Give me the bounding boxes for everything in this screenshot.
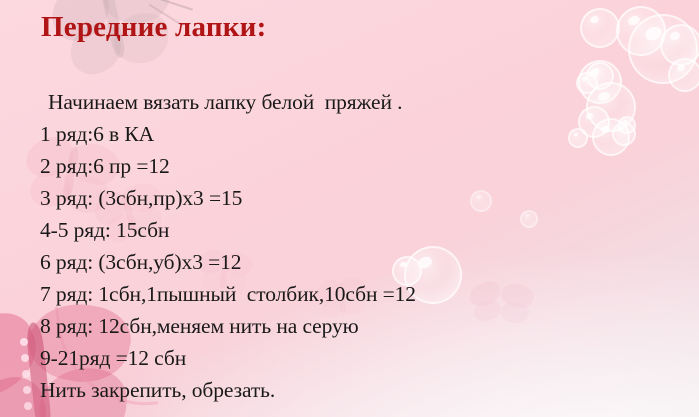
list-item: 4-5 ряд: 15сбн	[40, 214, 660, 246]
list-item: 2 ряд:6 пр =12	[40, 150, 660, 182]
list-item: 3 ряд: (3сбн,пр)х3 =15	[40, 182, 660, 214]
list-item: 7 ряд: 1сбн,1пышный столбик,10сбн =12	[40, 278, 660, 310]
list-item: Начинаем вязать лапку белой пряжей .	[40, 86, 660, 118]
list-item: 6 ряд: (3сбн,уб)х3 =12	[40, 246, 660, 278]
list-item: 1 ряд:6 в КА	[40, 118, 660, 150]
instructions-list: Начинаем вязать лапку белой пряжей . 1 р…	[40, 86, 660, 406]
page-title: Передние лапки:	[41, 13, 266, 42]
list-item: 8 ряд: 12сбн,меняем нить на серую	[40, 310, 660, 342]
list-item: Нить закрепить, обрезать.	[40, 374, 660, 406]
list-item: 9-21ряд =12 сбн	[40, 342, 660, 374]
slide-content: Передние лапки: Начинаем вязать лапку бе…	[0, 0, 699, 417]
slide-canvas: Передние лапки: Начинаем вязать лапку бе…	[0, 0, 699, 417]
